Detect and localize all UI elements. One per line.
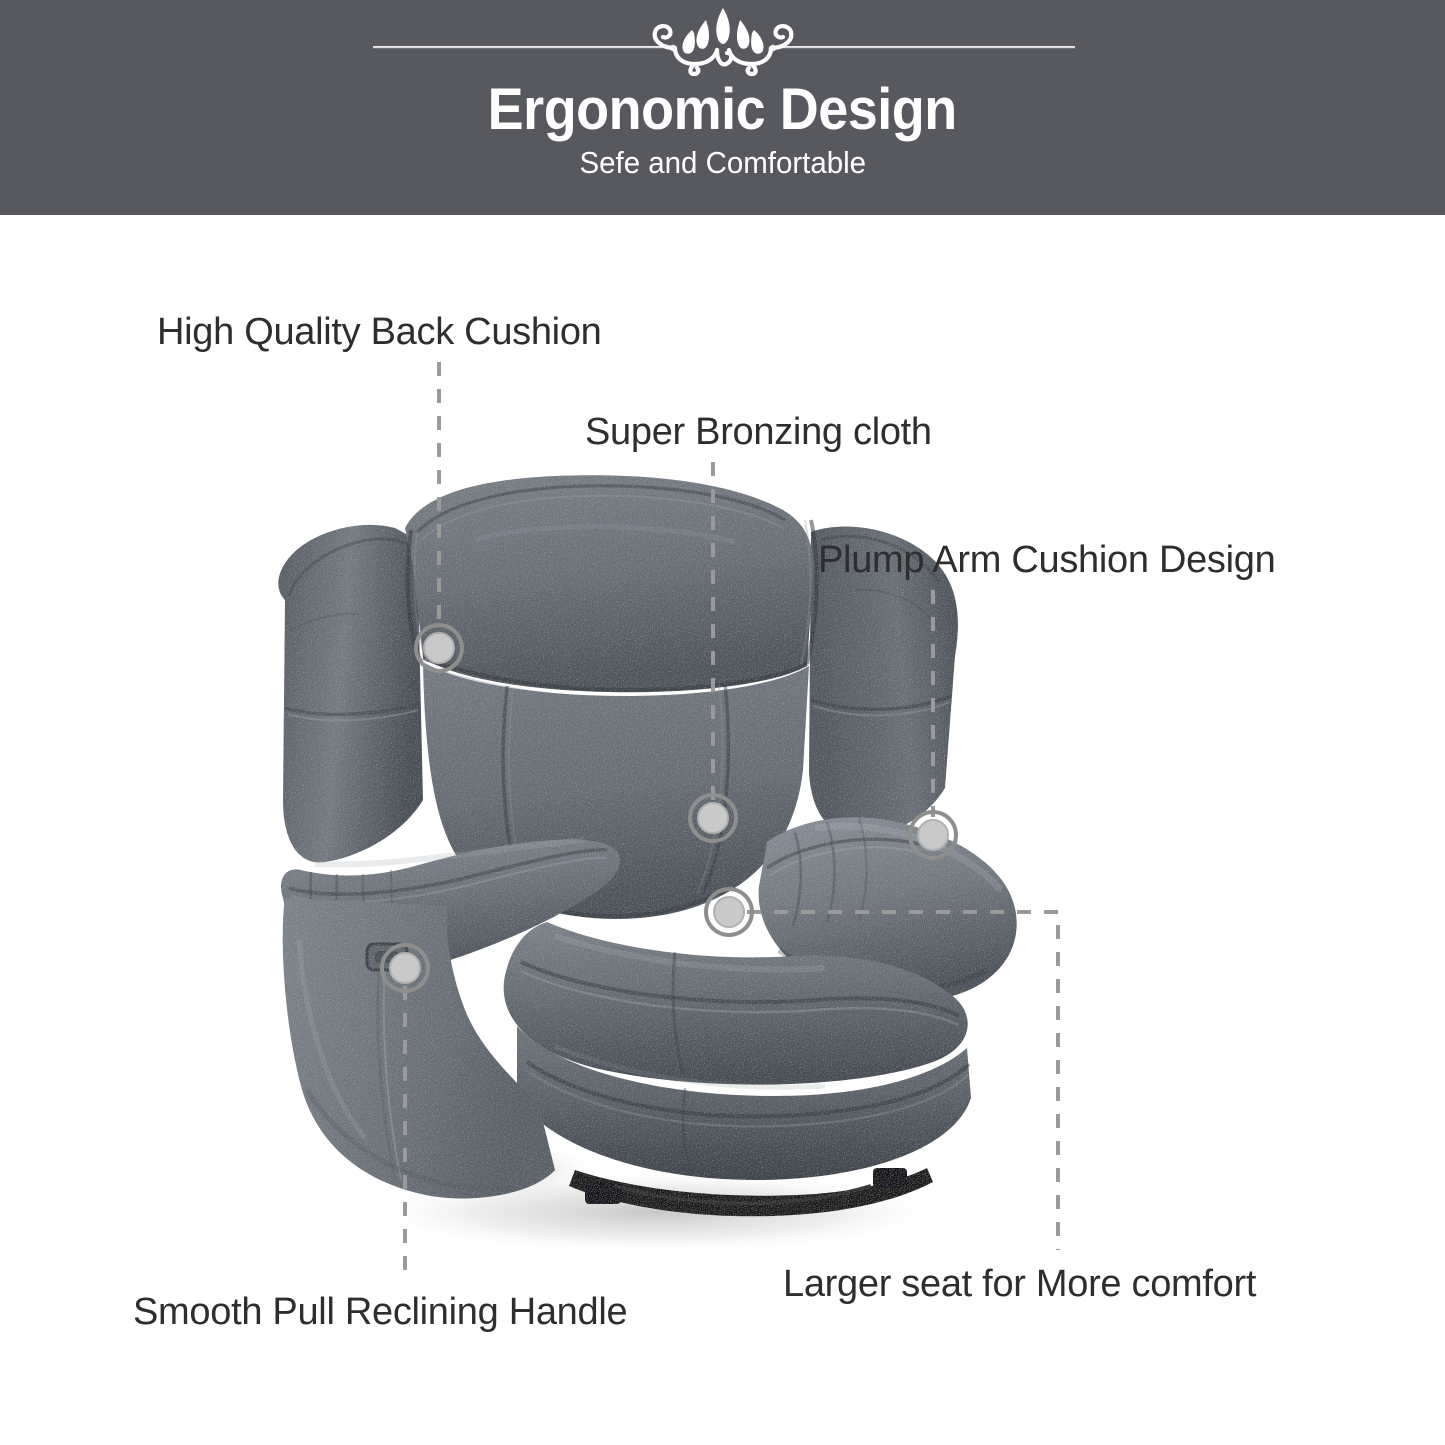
ornament-divider (0, 0, 1445, 78)
header-banner: Ergonomic Design Sefe and Comfortable (0, 0, 1445, 215)
recliner-pull-handle (367, 944, 407, 970)
callout-label-back-cushion: High Quality Back Cushion (157, 310, 602, 354)
callout-label-larger-seat: Larger seat for More comfort (783, 1262, 1256, 1306)
callout-label-reclining-handle: Smooth Pull Reclining Handle (133, 1290, 627, 1334)
recliner-chair-illustration (255, 470, 1045, 1270)
callout-label-bronzing-cloth: Super Bronzing cloth (585, 410, 932, 454)
page-title: Ergonomic Design (488, 80, 957, 140)
callout-label-arm-cushion: Plump Arm Cushion Design (818, 538, 1275, 582)
page-subtitle: Sefe and Comfortable (579, 145, 865, 181)
filigree-divider-ornament-icon (343, 0, 1103, 78)
product-image (255, 470, 1045, 1270)
